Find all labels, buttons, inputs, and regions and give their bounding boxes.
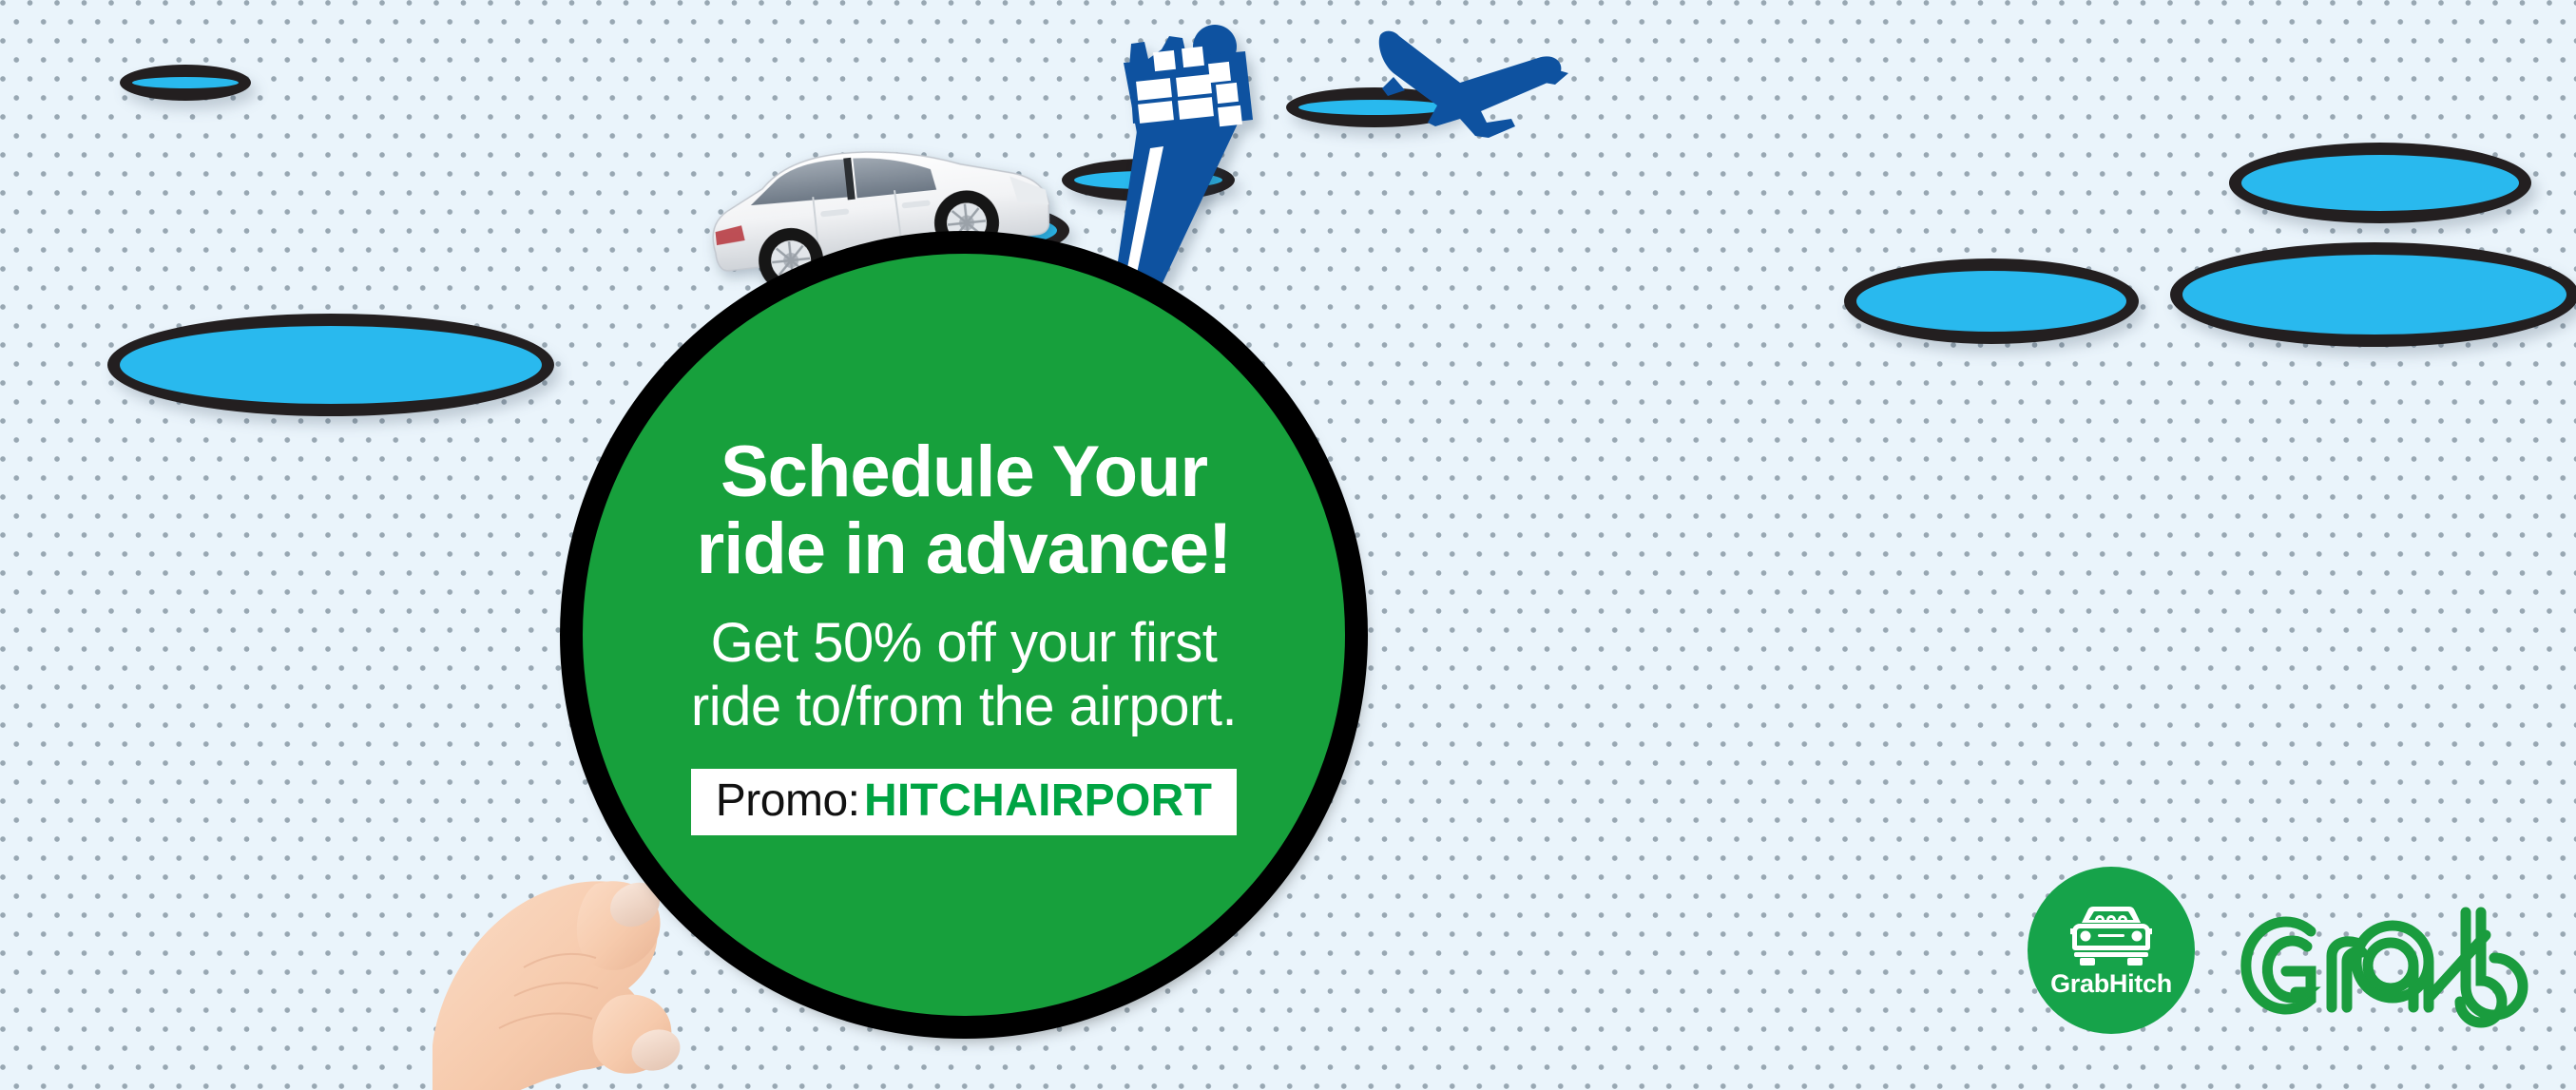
blue-blob-shape (2229, 143, 2531, 223)
headline: Schedule Your ride in advance! (659, 434, 1270, 587)
grabhitch-badge[interactable]: GrabHitch (2028, 867, 2195, 1034)
blue-blob-shape (120, 65, 251, 101)
grabhitch-car-icon (2070, 903, 2152, 966)
subheadline-line-2: ride to/from the airport. (691, 676, 1237, 737)
subheadline: Get 50% off your first ride to/from the … (663, 612, 1265, 737)
promo-code-box[interactable]: Promo: HITCHAIRPORT (691, 769, 1237, 835)
blue-blob-shape (1844, 258, 2139, 344)
subheadline-line-1: Get 50% off your first (711, 612, 1218, 674)
grab-logo[interactable] (2237, 891, 2565, 1043)
headline-line-1: Schedule Your (721, 431, 1207, 512)
promo-banner: Schedule Your ride in advance! Get 50% o… (0, 0, 2576, 1090)
headline-line-2: ride in advance! (697, 508, 1232, 589)
promo-circle: Schedule Your ride in advance! Get 50% o… (568, 239, 1359, 1030)
grabhitch-label: GrabHitch (2050, 969, 2172, 999)
promo-code: HITCHAIRPORT (864, 775, 1212, 826)
control-tower-icon (1095, 8, 1333, 321)
blue-blob-shape (2170, 242, 2576, 347)
promo-label: Promo: (716, 775, 860, 826)
blue-blob-shape (107, 314, 554, 416)
airplane-icon (1369, 24, 1578, 138)
